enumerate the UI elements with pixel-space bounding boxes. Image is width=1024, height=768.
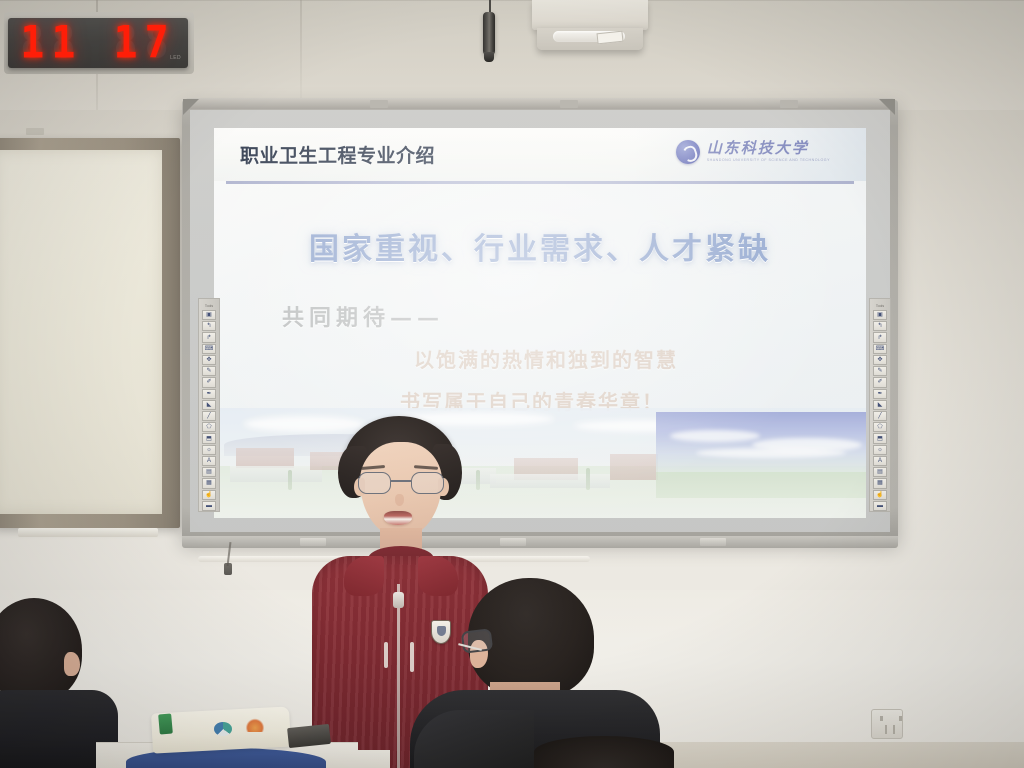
slide-body-line-1: 以饱满的热情和独到的智慧: [414, 344, 678, 373]
university-logo: 山东科技大学 SHANDONG UNIVERSITY OF SCIENCE AN…: [676, 140, 830, 164]
pointer-tool[interactable]: ☝: [202, 490, 216, 500]
settings-tool[interactable]: ▬: [202, 501, 216, 511]
brush-tool[interactable]: ✒: [873, 389, 887, 399]
ceiling-projector: projector: [532, 0, 648, 30]
inset-ground: [656, 472, 866, 498]
university-name-english: SHANDONG UNIVERSITY OF SCIENCE AND TECHN…: [707, 159, 830, 163]
panorama-building: [490, 474, 610, 488]
highlighter-tool[interactable]: ✐: [202, 377, 216, 387]
settings-tool[interactable]: ▬: [873, 501, 887, 511]
wall-vertical-seam-secondary: [300, 0, 302, 100]
wall-whiteboard-surface[interactable]: [0, 150, 162, 514]
eraser-tool[interactable]: ◣: [202, 400, 216, 410]
page-tool[interactable]: ▤: [873, 467, 887, 477]
panorama-inset-photo: [656, 412, 866, 498]
whiteboard-rail-clip: [560, 100, 578, 108]
panorama-tree: [586, 468, 590, 490]
presenter-zipper-pull: [393, 592, 404, 608]
eraser-tool[interactable]: ◣: [873, 400, 887, 410]
panorama-building: [236, 448, 294, 468]
slide-title: 职业卫生工程专业介绍: [240, 141, 435, 168]
eyeglass-lens-right: [411, 472, 444, 494]
tote-bag-logo-teal: [214, 722, 232, 736]
undo-tool[interactable]: ↰: [202, 321, 216, 331]
panorama-building: [610, 454, 658, 480]
inset-cloud: [670, 430, 760, 442]
hanging-microphone: [483, 12, 495, 56]
classroom-scene: 88 88 11 17 LED projector 职业卫生工程专业介绍 山东科…: [0, 0, 1024, 768]
audience-shoulder: [414, 710, 534, 768]
pen-tool[interactable]: ✎: [873, 366, 887, 376]
floor-skirting: [640, 742, 1024, 768]
highlighter-tool[interactable]: ✐: [873, 377, 887, 387]
audience-ear: [64, 652, 80, 676]
clock-brand-label: LED: [170, 55, 181, 61]
slide-subheading: 共同期待——: [282, 300, 444, 332]
spotlight-tool[interactable]: ☼: [873, 445, 887, 455]
shape-tool[interactable]: ⬠: [202, 422, 216, 432]
line-tool[interactable]: ╱: [873, 411, 887, 421]
page-tool[interactable]: ▤: [202, 467, 216, 477]
wall-whiteboard-marker-tray: [18, 528, 158, 537]
camera-tool[interactable]: ▦: [202, 478, 216, 488]
clock-time-display: 11 17: [20, 18, 175, 68]
select-tool[interactable]: ▣: [873, 310, 887, 320]
presenter-zipper: [397, 584, 400, 768]
university-emblem-icon: [676, 140, 700, 164]
panorama-tree: [288, 470, 292, 490]
slide-heading: 国家重视、行业需求、人才紧缺: [214, 224, 866, 268]
audience-head: [0, 598, 82, 702]
whiteboard-toolbar-left[interactable]: Tools ▣↰↱⌨✥✎✐✒◣╱⬠⬒☼A▤▦☝▬: [198, 298, 220, 512]
presenter-nose: [395, 494, 404, 506]
toolbar-caption: Tools: [876, 304, 884, 308]
eyeglass-lens-left: [358, 472, 391, 494]
pen-tool[interactable]: ✎: [202, 366, 216, 376]
redo-tool[interactable]: ↱: [202, 332, 216, 342]
stamp-tool[interactable]: ⬒: [873, 433, 887, 443]
slide-divider-line: [226, 181, 854, 184]
whiteboard-pen-ledge: [182, 536, 898, 548]
line-tool[interactable]: ╱: [202, 411, 216, 421]
ledge-clip: [500, 538, 526, 546]
pointer-tool[interactable]: ☝: [873, 490, 887, 500]
whiteboard-rail-clip: [370, 100, 388, 108]
microphone-tip: [484, 52, 494, 62]
brush-tool[interactable]: ✒: [202, 389, 216, 399]
tote-bag-green-item: [158, 713, 173, 734]
digital-wall-clock: 88 88 11 17 LED: [8, 18, 188, 68]
keyboard-tool[interactable]: ⌨: [873, 344, 887, 354]
whiteboard-wall-mount: [26, 128, 44, 135]
text-tool[interactable]: A: [873, 456, 887, 466]
keyboard-tool[interactable]: ⌨: [202, 344, 216, 354]
mouse-tool[interactable]: ✥: [873, 355, 887, 365]
select-tool[interactable]: ▣: [202, 310, 216, 320]
inset-cloud: [696, 448, 846, 458]
wall-seam: [0, 0, 1024, 1]
redo-tool[interactable]: ↱: [873, 332, 887, 342]
mouse-tool[interactable]: ✥: [202, 355, 216, 365]
wall-power-outlet[interactable]: [871, 709, 903, 739]
undo-tool[interactable]: ↰: [873, 321, 887, 331]
toolbar-caption: Tools: [205, 304, 213, 308]
eyeglass-bridge: [391, 480, 411, 482]
whiteboard-rail-clip: [780, 100, 798, 108]
cable-connector: [224, 563, 232, 575]
presenter-mouth: [384, 511, 412, 525]
tote-bag-logo-orange: [246, 718, 264, 732]
presenter-eyeglasses: [355, 472, 447, 494]
audience-member-left: [0, 598, 110, 768]
camera-tool[interactable]: ▦: [873, 478, 887, 488]
ledge-clip: [700, 538, 726, 546]
audience-member-right: [534, 736, 674, 768]
spotlight-tool[interactable]: ☼: [202, 445, 216, 455]
university-name-chinese: 山东科技大学: [707, 141, 830, 156]
shape-tool[interactable]: ⬠: [873, 422, 887, 432]
presenter-drawstring-left: [384, 642, 388, 668]
text-tool[interactable]: A: [202, 456, 216, 466]
stamp-tool[interactable]: ⬒: [202, 433, 216, 443]
whiteboard-toolbar-right[interactable]: Tools ▣↰↱⌨✥✎✐✒◣╱⬠⬒☼A▤▦☝▬: [869, 298, 891, 512]
